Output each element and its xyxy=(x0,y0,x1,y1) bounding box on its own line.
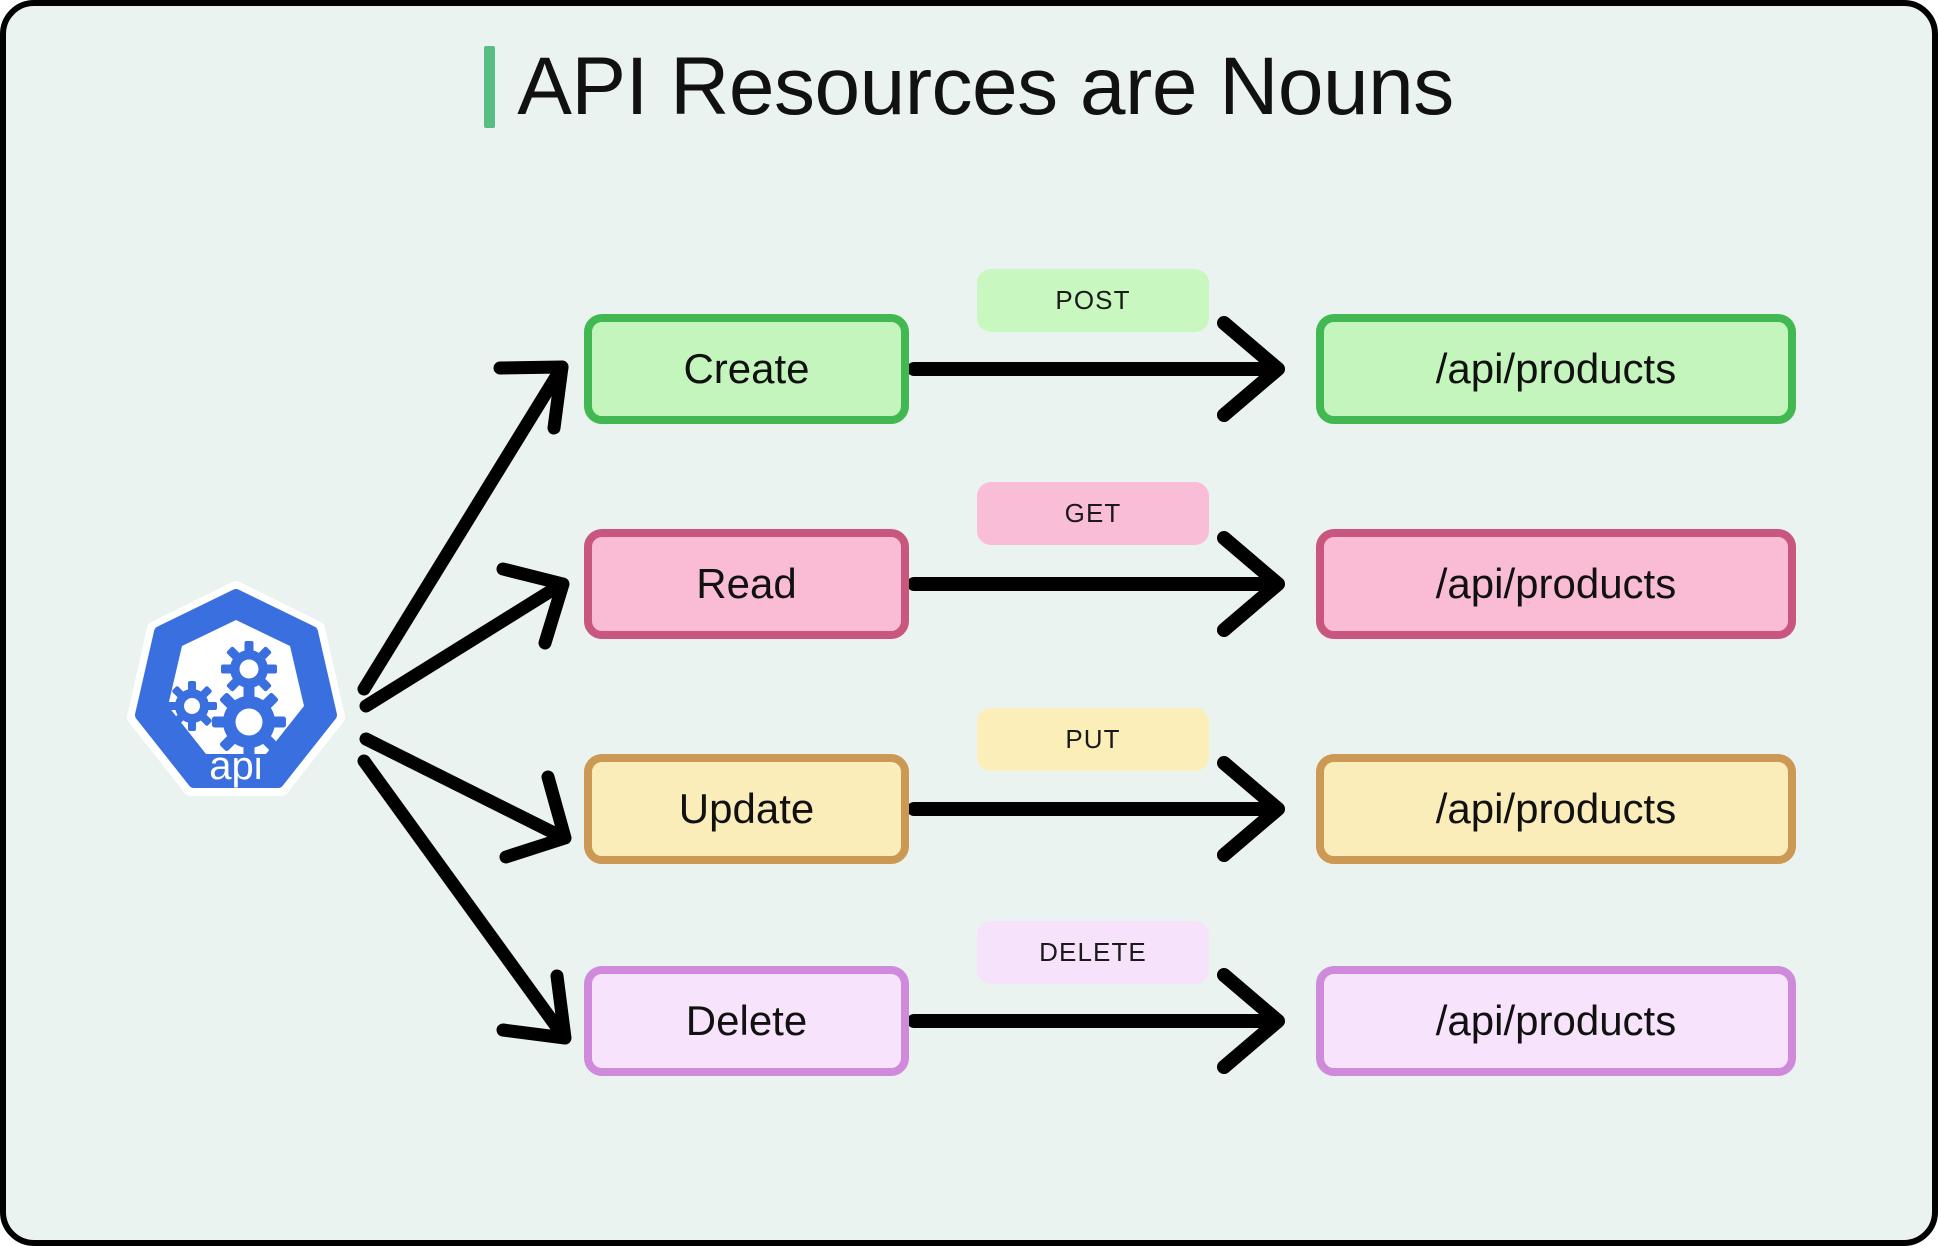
arrow-delete-to-endpoint xyxy=(914,975,1278,1067)
method-pill-post: POST xyxy=(977,269,1209,332)
endpoint-label: /api/products xyxy=(1436,785,1676,833)
hub-label: api xyxy=(209,744,262,788)
arrow-hub-to-delete xyxy=(364,761,565,1038)
page-title: API Resources are Nouns xyxy=(517,46,1454,128)
method-label: GET xyxy=(1065,498,1122,529)
verb-label: Update xyxy=(679,785,814,833)
method-pill-put: PUT xyxy=(977,708,1209,771)
method-pill-delete: DELETE xyxy=(977,921,1209,984)
endpoint-label: /api/products xyxy=(1436,345,1676,393)
title-row: API Resources are Nouns xyxy=(484,46,1454,128)
arrow-hub-to-read xyxy=(366,569,563,706)
endpoint-label: /api/products xyxy=(1436,997,1676,1045)
verb-box-delete[interactable]: Delete xyxy=(584,966,909,1076)
arrow-hub-to-update xyxy=(366,739,565,857)
endpoint-box-create[interactable]: /api/products xyxy=(1316,314,1796,424)
endpoint-label: /api/products xyxy=(1436,560,1676,608)
endpoint-box-update[interactable]: /api/products xyxy=(1316,754,1796,864)
api-hub-logo: api xyxy=(135,589,337,788)
verb-box-create[interactable]: Create xyxy=(584,314,909,424)
verb-box-read[interactable]: Read xyxy=(584,529,909,639)
page-title-container: API Resources are Nouns xyxy=(6,46,1932,128)
method-label: POST xyxy=(1055,285,1130,316)
gear-icon xyxy=(212,685,286,759)
endpoint-box-read[interactable]: /api/products xyxy=(1316,529,1796,639)
verb-box-update[interactable]: Update xyxy=(584,754,909,864)
arrow-hub-to-create xyxy=(364,367,562,689)
arrow-read-to-endpoint xyxy=(914,538,1278,630)
verb-label: Delete xyxy=(686,997,807,1045)
gear-icon xyxy=(167,681,217,731)
title-accent-bar xyxy=(484,46,495,128)
gear-icon xyxy=(221,641,277,697)
method-pill-get: GET xyxy=(977,482,1209,545)
method-label: DELETE xyxy=(1039,937,1147,968)
verb-label: Read xyxy=(696,560,796,608)
arrow-create-to-endpoint xyxy=(914,323,1278,415)
arrow-update-to-endpoint xyxy=(914,763,1278,855)
diagram-canvas: API Resources are Nouns xyxy=(0,0,1938,1246)
endpoint-box-delete[interactable]: /api/products xyxy=(1316,966,1796,1076)
verb-label: Create xyxy=(683,345,809,393)
method-label: PUT xyxy=(1065,724,1120,755)
